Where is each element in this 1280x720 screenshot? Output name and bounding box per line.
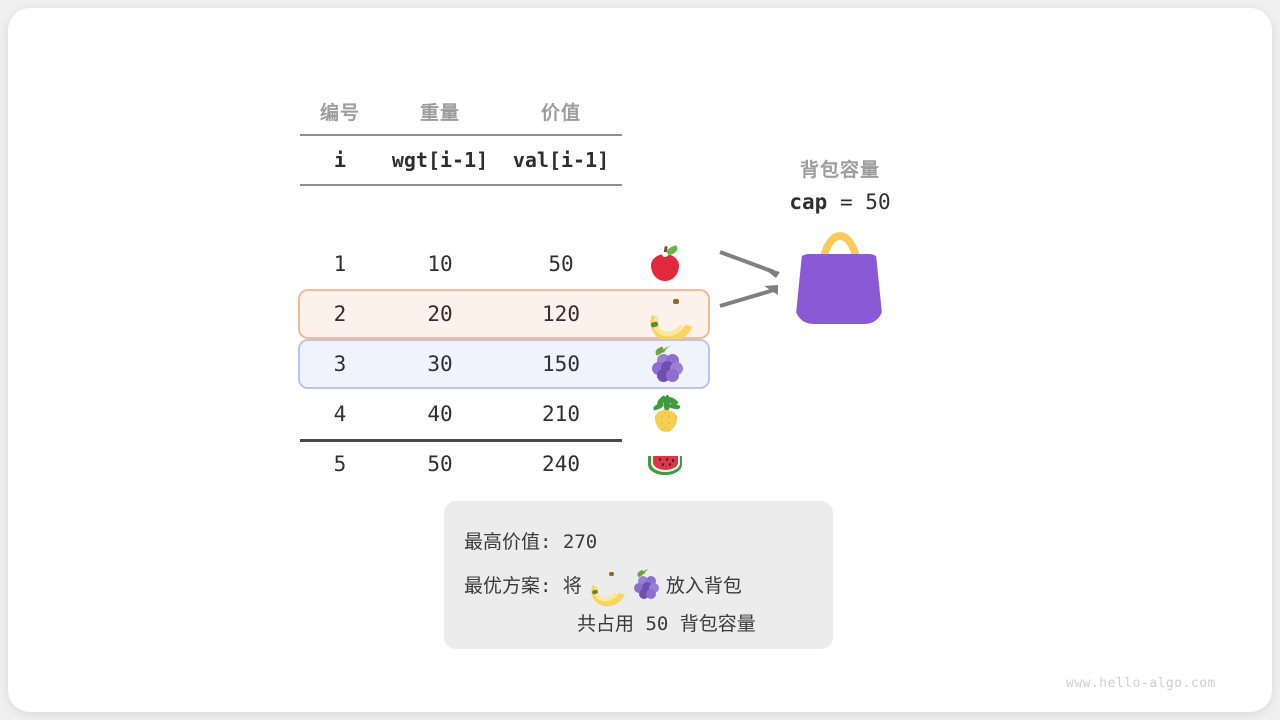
code-header-i: i [300,148,380,172]
cell-value: 50 [500,252,622,276]
banana-emoji [588,569,618,599]
cell-item-icon [622,345,708,383]
cell-value: 240 [500,452,622,476]
arrow-right-icon [718,248,802,328]
banana-emoji [646,295,684,333]
column-header-value: 价值 [500,98,622,125]
cell-id: 1 [300,252,380,276]
pineapple-emoji [646,395,684,433]
cell-id: 5 [300,452,380,476]
cell-weight: 50 [380,452,500,476]
capacity-var-name: cap [789,190,827,214]
cell-value: 120 [500,302,622,326]
capacity-value: 50 [865,190,890,214]
cell-id: 2 [300,302,380,326]
result-best-plan: 最优方案: 将 放入背包 [464,569,742,599]
cell-id: 4 [300,402,380,426]
table-body: 1 10 50 2 20 120 3 30 150 [298,239,710,489]
code-header-wgt: wgt[i-1] [380,148,500,172]
grapes-emoji [646,345,684,383]
result-plan-suffix: 放入背包 [666,571,742,598]
cell-weight: 40 [380,402,500,426]
table-row[interactable]: 2 20 120 [298,289,710,339]
result-used-capacity: 共占用 50 背包容量 [577,609,756,636]
cell-value: 210 [500,402,622,426]
table-row[interactable]: 4 40 210 [298,389,710,439]
result-max-value: 最高价值: 270 [464,527,597,554]
grapes-emoji [630,569,660,599]
watermelon-emoji [646,445,684,483]
handbag-body [795,254,883,324]
column-header-id: 编号 [300,98,380,125]
cell-weight: 20 [380,302,500,326]
capacity-title: 背包容量 [740,155,940,182]
table-row[interactable]: 5 50 240 [298,439,710,489]
column-header-weight: 重量 [380,98,500,125]
page-background: 编号 重量 价值 i wgt[i-1] val[i-1] 1 10 50 2 2… [0,0,1280,720]
cell-item-icon [622,445,708,483]
cell-item-icon [622,295,708,333]
table-row[interactable]: 1 10 50 [298,239,710,289]
arrow-group [718,248,802,328]
cell-item-icon [622,245,708,283]
handbag-icon [795,232,885,324]
table-divider-mid [300,184,622,186]
capacity-expression: cap = 50 [740,190,940,214]
table-row[interactable]: 3 30 150 [298,339,710,389]
cell-value: 150 [500,352,622,376]
capacity-equals: = [840,190,853,214]
cell-item-icon [622,395,708,433]
table-header-code-row: i wgt[i-1] val[i-1] [300,136,622,184]
cell-weight: 30 [380,352,500,376]
items-table: 编号 重量 价值 i wgt[i-1] val[i-1] [300,88,622,186]
table-divider-bottom [300,439,622,442]
result-infobox: 最高价值: 270 最优方案: 将 放入背包 共占用 50 [444,501,833,649]
table-header-cn-row: 编号 重量 价值 [300,88,622,134]
cell-id: 3 [300,352,380,376]
result-plan-prefix: 最优方案: 将 [464,571,582,598]
code-header-val: val[i-1] [500,148,622,172]
watermark: www.hello-algo.com [1066,676,1216,691]
cell-weight: 10 [380,252,500,276]
apple-emoji [646,245,684,283]
